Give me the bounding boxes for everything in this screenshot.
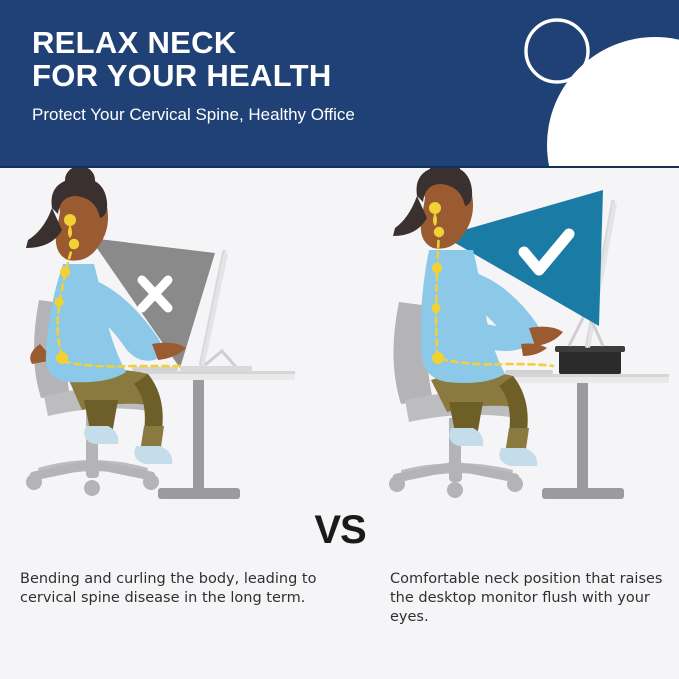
circle-outline-icon [526, 20, 588, 82]
circle-filled-icon [547, 37, 679, 168]
keyboard-left [132, 367, 178, 371]
illustration-good-posture [381, 168, 671, 558]
header-title-block: RELAX NECK FOR YOUR HEALTH Protect Your … [32, 26, 502, 125]
panel-bad-posture [8, 168, 298, 558]
caption-good-posture: Comfortable neck position that raises th… [390, 570, 679, 627]
caption-bad-posture: Bending and curling the body, leading to… [20, 570, 320, 608]
vs-label: VS [296, 508, 384, 552]
infographic-page: RELAX NECK FOR YOUR HEALTH Protect Your … [0, 0, 679, 679]
panel-good-posture [381, 168, 671, 558]
monitor-riser [555, 346, 625, 374]
page-title-line-2: FOR YOUR HEALTH [32, 59, 502, 92]
page-subtitle: Protect Your Cervical Spine, Healthy Off… [32, 105, 502, 125]
comparison-area: VS [0, 168, 679, 558]
caption-area: Bending and curling the body, leading to… [0, 570, 679, 640]
keyboard-right [505, 370, 553, 374]
header-banner: RELAX NECK FOR YOUR HEALTH Protect Your … [0, 0, 679, 168]
illustration-bad-posture [8, 168, 298, 558]
page-title-line-1: RELAX NECK [32, 26, 502, 59]
